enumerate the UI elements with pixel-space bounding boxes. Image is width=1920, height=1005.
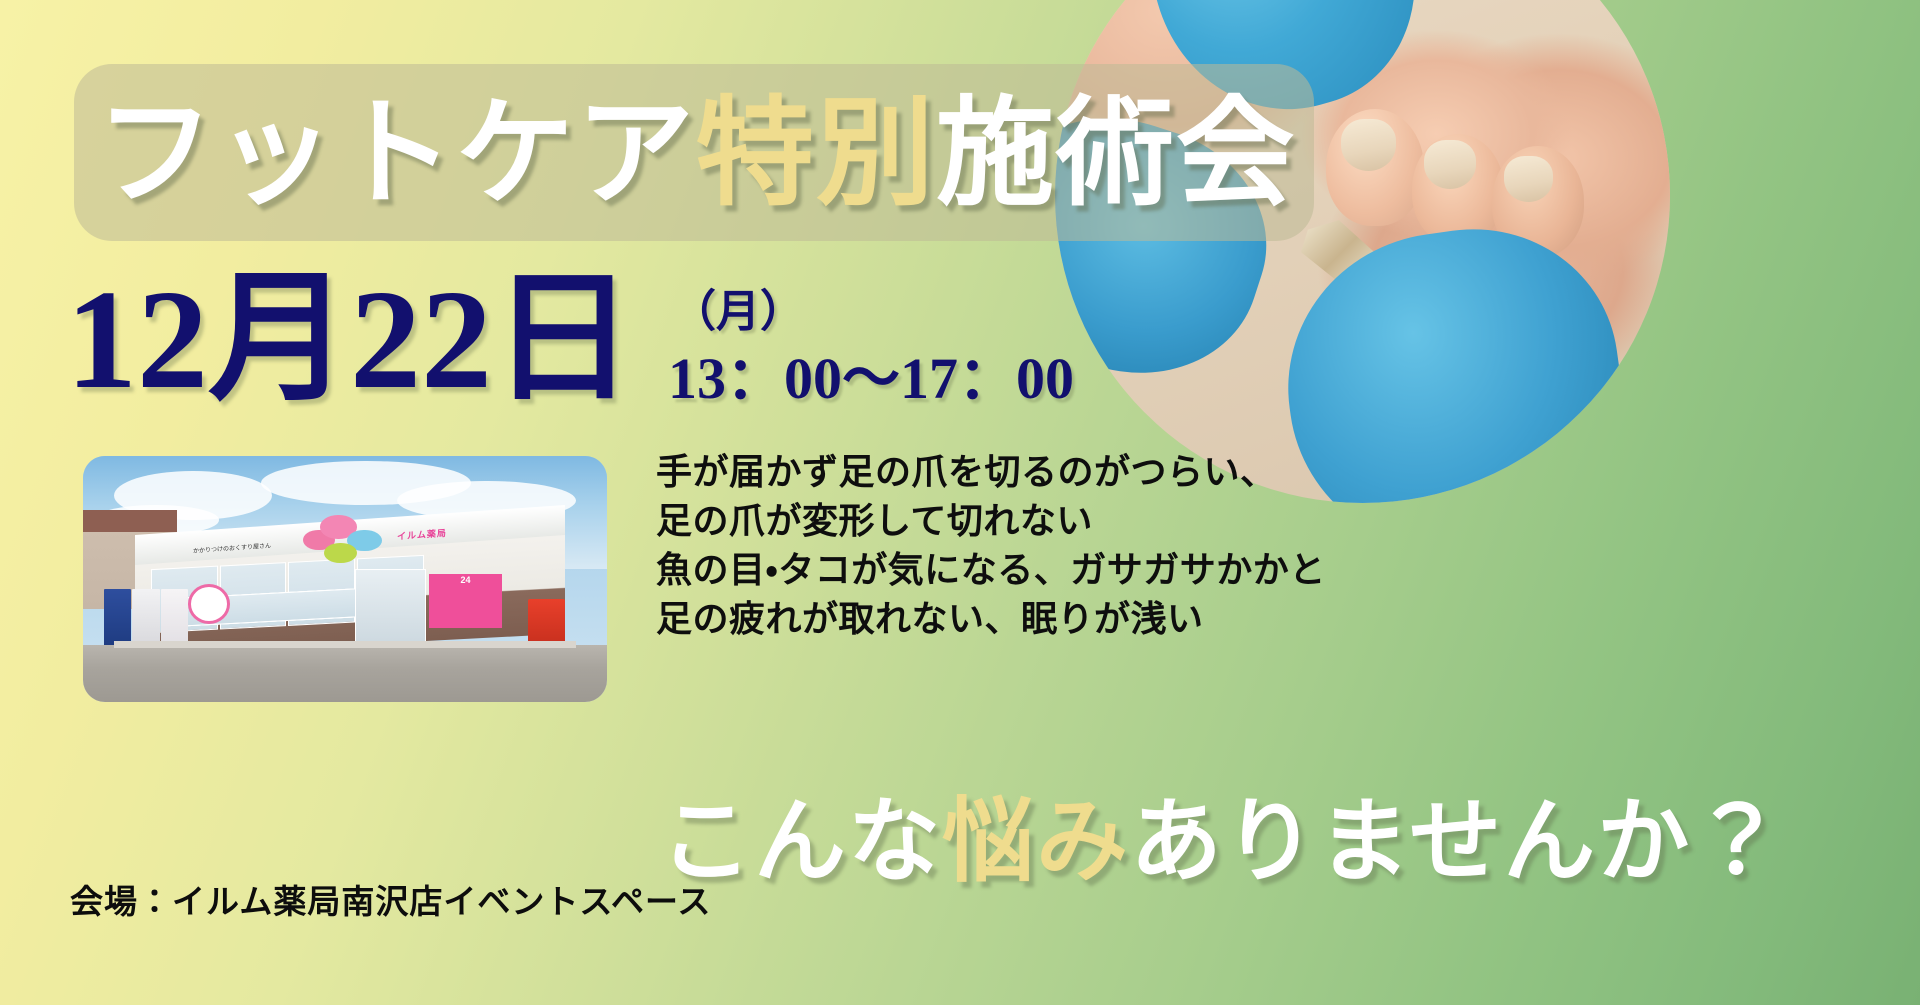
event-day-of-week: （月） — [672, 290, 804, 334]
title-part2: 施術会 — [936, 84, 1296, 222]
vending-machines — [104, 589, 188, 648]
parking-lot-ground — [83, 645, 607, 702]
symptom-list: 手が届かず足の爪を切るのがつらい、 足の爪が変形して切れない 魚の目・タコが気に… — [656, 448, 1636, 644]
tagline-part2: ありませんか？ — [1130, 788, 1785, 895]
store-entrance — [355, 569, 425, 645]
event-date: 12月22日 — [66, 268, 634, 410]
symptom-line: 足の疲れが取れない、眠りが浅い — [656, 595, 1636, 644]
symptom-line: 足の爪が変形して切れない — [656, 497, 1636, 546]
vending-machine — [104, 589, 131, 648]
curb — [114, 641, 575, 648]
vending-machine — [161, 589, 188, 648]
tagline: こんな悩みありませんか？ — [660, 786, 1785, 898]
storefront-24h-badge: 24 — [429, 574, 502, 628]
tagline-accent: 悩み — [942, 788, 1130, 895]
venue-caption: 会場：イルム薬局南沢店イベントスペース — [70, 882, 711, 922]
vending-machine — [132, 589, 159, 648]
symptom-line: 手が届かず足の爪を切るのがつらい、 — [656, 448, 1636, 497]
title-part1: フットケア — [96, 84, 696, 222]
storefront-photo: イルム薬局 かかりつけのおくすり屋さん 24 — [83, 456, 607, 702]
title-accent: 特別 — [696, 84, 936, 222]
symptom-line: 魚の目・タコが気になる、ガサガサかかと — [656, 546, 1636, 595]
flyer-canvas: フットケア特別施術会 12月22日 （月） 13：00～17：00 イルム薬局 … — [0, 0, 1920, 1005]
tagline-part1: こんな — [660, 788, 942, 895]
page-title: フットケア特別施術会 — [96, 78, 1516, 228]
event-time-range: 13：00～17：00 — [668, 350, 1074, 408]
